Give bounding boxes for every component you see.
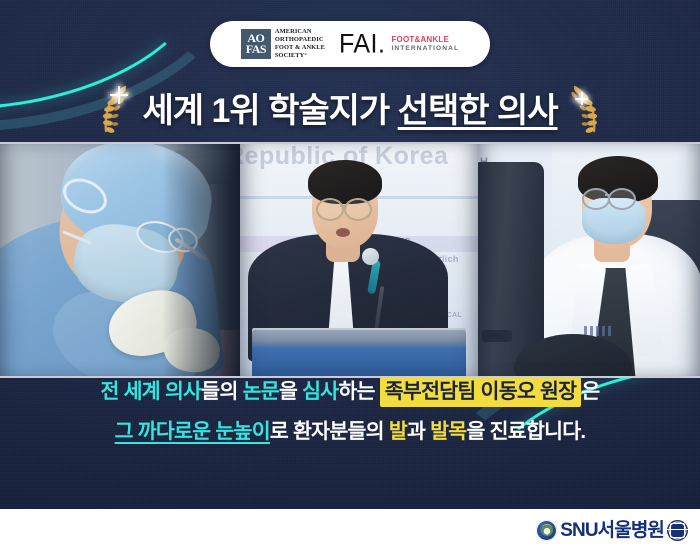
copy-l1-seg2: 들의	[201, 380, 242, 403]
aofas-mark-line2: FAS	[246, 44, 266, 55]
copy-line-2: 그 까다로운 눈높이로 환자분들의 발과 발목을 진료합니다.	[0, 422, 700, 443]
laurel-branch-right-icon	[568, 85, 602, 137]
copy-l2-seg1: 그 까다로운 눈높이	[115, 420, 270, 443]
footer-bar: SNU서울병원	[0, 509, 700, 551]
copy-l1-highlight: 족부전담팀 이동오 원장	[380, 377, 582, 407]
microphone-icon	[362, 248, 379, 265]
fai-mark-icon: FAI.	[339, 31, 385, 58]
lecture-photo: Republic of Korea WORKSHOP emtec Geistli…	[240, 144, 478, 376]
photo-strip: Republic of Korea WORKSHOP emtec Geistli…	[0, 142, 700, 378]
doctor-glasses-icon	[582, 188, 610, 210]
hospital-name: SNU서울병원	[560, 521, 664, 540]
copy-l1-seg5: 심사	[302, 380, 338, 403]
copy-l2-seg4: 과	[407, 420, 430, 443]
headline-part1: 세계 1위 학술지가	[142, 92, 397, 130]
aofas-name-line3: FOOT & ANKLE	[275, 44, 325, 52]
aofas-mark-icon: AO FAS	[241, 29, 271, 59]
copy-l1-seg6: 하는	[338, 380, 379, 403]
copy-l2-seg2: 로 환자분들의	[270, 420, 389, 443]
snu-circular-emblem-icon	[536, 520, 557, 541]
copy-l1-seg8: 은	[581, 380, 599, 403]
aofas-logo: AO FAS AMERICAN ORTHOPAEDIC FOOT & ANKLE…	[241, 28, 325, 60]
laurel-branch-left-icon	[98, 85, 132, 137]
copy-l1-seg3: 논문	[243, 380, 279, 403]
fai-name-line1: FOOT&ANKLE	[391, 35, 459, 45]
copy-l2-seg6: 을 진료합니다.	[466, 420, 585, 443]
consultation-photo: H GEN	[478, 144, 700, 376]
aofas-name: AMERICAN ORTHOPAEDIC FOOT & ANKLE SOCIET…	[275, 28, 325, 60]
journal-logo-pill: AO FAS AMERICAN ORTHOPAEDIC FOOT & ANKLE…	[210, 21, 490, 67]
fai-name: FOOT&ANKLE INTERNATIONAL	[391, 35, 459, 53]
promo-copy: 전 세계 의사들의 논문을 심사하는 족부전담팀 이동오 원장은 그 까다로운 …	[0, 382, 700, 442]
aofas-name-line1: AMERICAN	[275, 28, 325, 36]
fai-logo: FAI. FOOT&ANKLE INTERNATIONAL	[339, 32, 459, 57]
copy-l2-seg5: 발목	[430, 420, 466, 443]
copy-l2-seg3: 발	[389, 420, 407, 443]
podium	[252, 330, 466, 376]
copy-l1-seg1: 전 세계 의사	[100, 380, 201, 403]
page-title: 세계 1위 학술지가 선택한 의사	[142, 94, 557, 128]
headline-part2: 선택한 의사	[398, 92, 558, 130]
aofas-name-line2: ORTHOPAEDIC	[275, 36, 325, 44]
fai-name-line2: INTERNATIONAL	[391, 45, 459, 53]
headline-row: 세계 1위 학술지가 선택한 의사	[0, 82, 700, 140]
aofas-name-line4: SOCIETY°	[275, 52, 325, 60]
copy-l1-seg4: 을	[279, 380, 302, 403]
surgery-photo	[0, 144, 240, 376]
speaker-glasses-icon	[316, 198, 344, 221]
hospital-seal-emblem-icon	[667, 520, 688, 541]
copy-line-1: 전 세계 의사들의 논문을 심사하는 족부전담팀 이동오 원장은	[0, 382, 700, 403]
hospital-logo[interactable]: SNU서울병원	[536, 520, 688, 541]
promo-banner: AO FAS AMERICAN ORTHOPAEDIC FOOT & ANKLE…	[0, 0, 700, 551]
